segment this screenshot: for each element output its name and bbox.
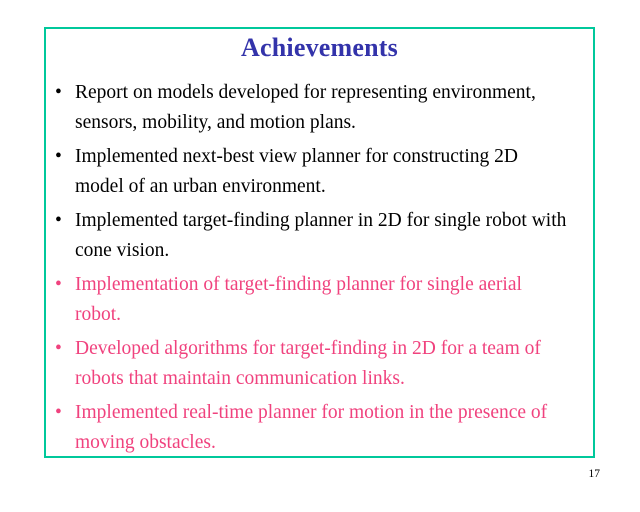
list-item-text: Implemented target-finding planner in 2D… bbox=[75, 206, 571, 265]
bullet-dot-icon: • bbox=[55, 334, 67, 364]
list-item: • Developed algorithms for target-findin… bbox=[46, 334, 591, 393]
list-item: • Implemented target-finding planner in … bbox=[46, 206, 591, 265]
list-item-text: Report on models developed for represent… bbox=[75, 78, 586, 137]
list-item-text: Developed algorithms for target-finding … bbox=[75, 334, 564, 393]
list-item: • Report on models developed for represe… bbox=[46, 78, 591, 137]
list-item-text: Implemented real-time planner for motion… bbox=[75, 398, 569, 457]
bullet-dot-icon: • bbox=[55, 270, 67, 300]
bullet-dot-icon: • bbox=[55, 206, 67, 236]
list-item-text: Implemented next-best view planner for c… bbox=[75, 142, 567, 201]
bullet-dot-icon: • bbox=[55, 398, 67, 428]
page-number: 17 bbox=[589, 468, 601, 480]
list-item-text: Implementation of target-finding planner… bbox=[75, 270, 565, 329]
list-item: • Implemented real-time planner for moti… bbox=[46, 398, 591, 457]
slide-canvas: Achievements • Report on models develope… bbox=[0, 0, 640, 512]
list-item: • Implemented next-best view planner for… bbox=[46, 142, 591, 201]
bullet-dot-icon: • bbox=[55, 78, 67, 108]
page-title: Achievements bbox=[46, 33, 593, 63]
bullet-list: • Report on models developed for represe… bbox=[46, 78, 591, 462]
list-item: • Implementation of target-finding plann… bbox=[46, 270, 591, 329]
bullet-dot-icon: • bbox=[55, 142, 67, 172]
